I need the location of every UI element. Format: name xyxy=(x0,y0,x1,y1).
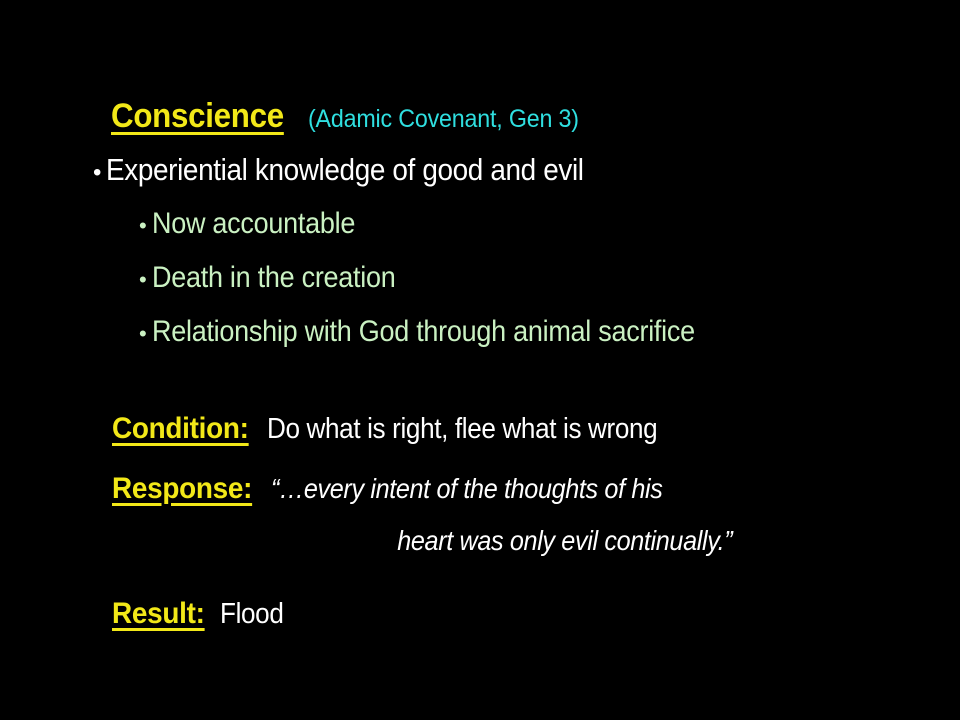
detail-row-response: Response: “…every intent of the thoughts… xyxy=(112,472,912,522)
response-value-line2-row: heart was only evil continually.” xyxy=(112,525,732,557)
result-label: Result: xyxy=(112,597,205,631)
response-value-line1: “…every intent of the thoughts of his xyxy=(271,473,663,505)
list-item: • Now accountable xyxy=(139,207,756,261)
result-value: Flood xyxy=(220,598,283,631)
response-label: Response: xyxy=(112,472,252,506)
detail-row-result: Result: Flood xyxy=(112,597,912,645)
bullet-dot-icon: • xyxy=(93,161,101,185)
list-item: • Death in the creation xyxy=(139,261,756,315)
bullet-dot-icon: • xyxy=(139,323,146,345)
bullet-dot-icon: • xyxy=(139,215,146,237)
details-block: Condition: Do what is right, flee what i… xyxy=(112,412,912,645)
condition-label: Condition: xyxy=(112,412,249,446)
list-item-label: Relationship with God through animal sac… xyxy=(152,315,695,349)
condition-value: Do what is right, flee what is wrong xyxy=(267,413,657,446)
page-title: Conscience xyxy=(111,97,284,136)
page-subtitle: (Adamic Covenant, Gen 3) xyxy=(308,105,579,134)
list-item-label: Experiential knowledge of good and evil xyxy=(106,152,584,188)
slide-title-row: Conscience (Adamic Covenant, Gen 3) xyxy=(111,97,599,136)
list-item-label: Death in the creation xyxy=(152,261,395,295)
slide-canvas: Conscience (Adamic Covenant, Gen 3) • Ex… xyxy=(0,0,960,720)
list-item-label: Now accountable xyxy=(152,207,355,241)
block-spacer xyxy=(112,557,912,597)
bullet-dot-icon: • xyxy=(139,269,146,291)
response-value-line2: heart was only evil continually.” xyxy=(397,525,732,557)
list-item: • Experiential knowledge of good and evi… xyxy=(93,152,637,188)
detail-row-condition: Condition: Do what is right, flee what i… xyxy=(112,412,912,472)
list-item: • Relationship with God through animal s… xyxy=(139,315,756,369)
sub-bullet-list: • Now accountable • Death in the creatio… xyxy=(139,207,756,369)
